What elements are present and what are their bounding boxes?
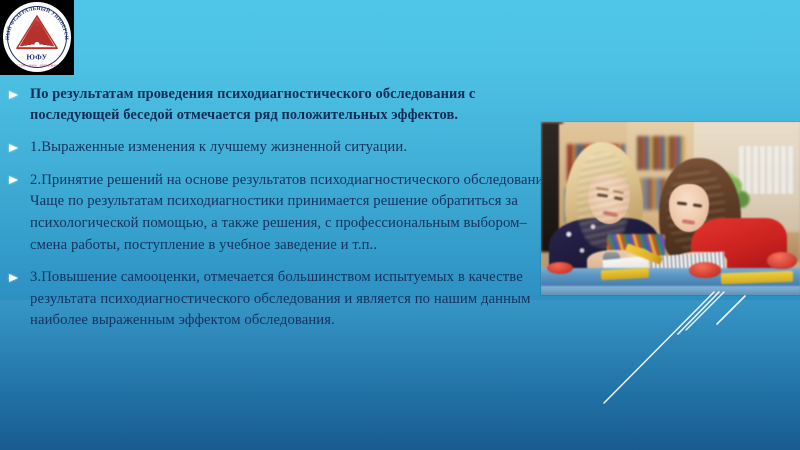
bullet-marker-icon [9, 91, 18, 99]
paragraph-item-3: 3.Повышение самооценки, отмечается больш… [6, 267, 566, 332]
svg-text:РОССИЯ · НАУКА · ОБРАЗОВАНИЕ: РОССИЯ · НАУКА · ОБРАЗОВАНИЕ [13, 64, 62, 68]
slide-canvas: ЮЖНЫЙ ФЕДЕРАЛЬНЫЙ УНИВЕРСИТЕТ [0, 0, 800, 450]
woman-and-girl-reading-photo [541, 122, 800, 295]
logo-abbreviation-svg: ЮФУ РОССИЯ · НАУКА · ОБРАЗОВАНИЕ [3, 2, 71, 72]
paragraph-item-1: 1.Выраженные изменения к лучшему жизненн… [6, 137, 566, 159]
paragraph-lead-text: По результатам проведения психодиагности… [30, 84, 566, 126]
paragraph-lead: По результатам проведения психодиагности… [6, 84, 566, 126]
logo-disc: ЮЖНЫЙ ФЕДЕРАЛЬНЫЙ УНИВЕРСИТЕТ [3, 2, 71, 72]
paragraph-item-3-text: 3.Повышение самооценки, отмечается больш… [30, 267, 566, 332]
paragraph-item-2: 2.Принятие решений на основе результатов… [6, 170, 566, 256]
paragraph-item-1-text: 1.Выраженные изменения к лучшему жизненн… [30, 137, 566, 159]
paragraph-item-2-text: 2.Принятие решений на основе результатов… [30, 170, 566, 256]
university-logo: ЮЖНЫЙ ФЕДЕРАЛЬНЫЙ УНИВЕРСИТЕТ [0, 0, 74, 75]
diagonal-accent-lines [600, 290, 800, 450]
bullet-marker-icon [9, 144, 18, 152]
bullet-marker-icon [9, 176, 18, 184]
bullet-marker-icon [9, 274, 18, 282]
photo-tone-overlay [541, 122, 800, 295]
slide-body-text: По результатам проведения психодиагности… [6, 84, 566, 343]
svg-text:ЮФУ: ЮФУ [26, 53, 47, 62]
